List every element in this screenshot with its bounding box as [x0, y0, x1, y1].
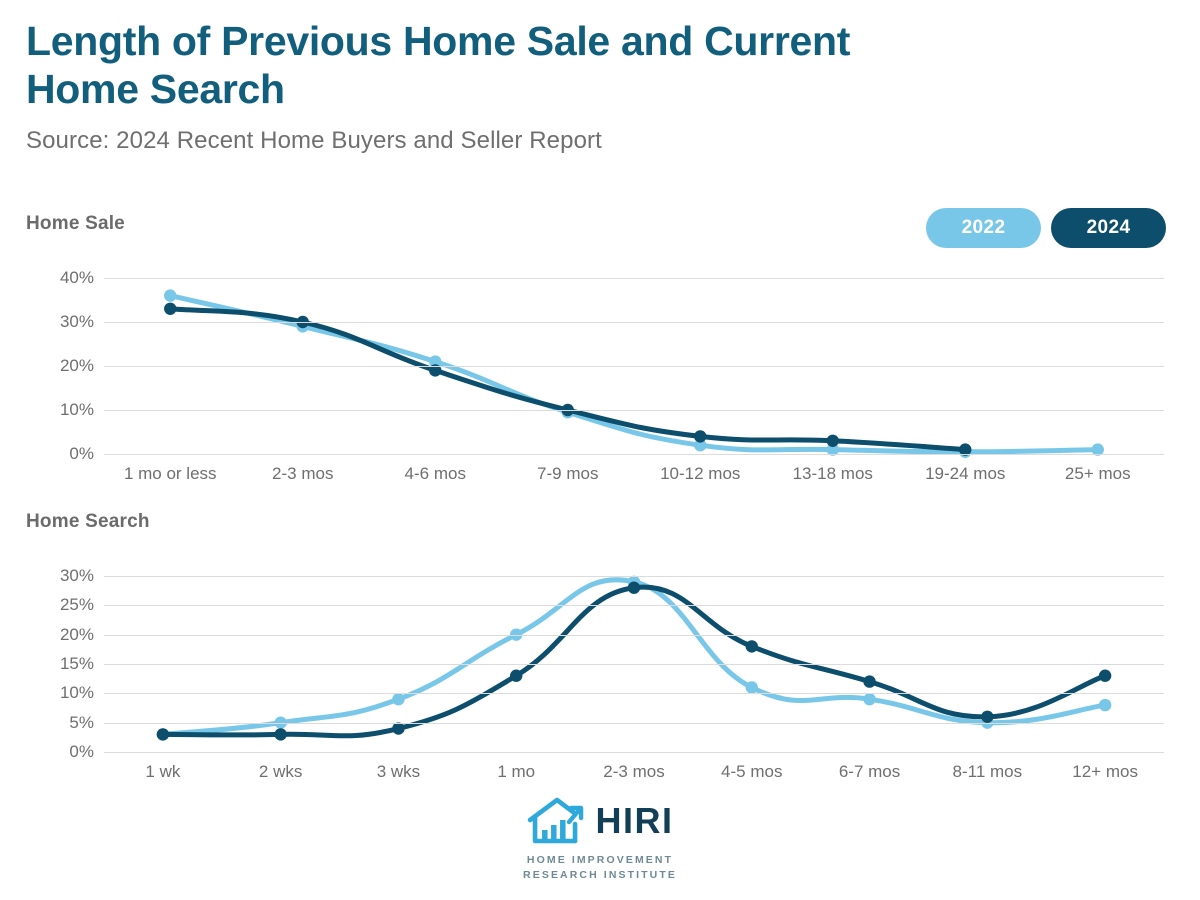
y-axis-tick-label: 30%	[60, 312, 94, 332]
x-axis-tick-label: 2-3 mos	[603, 762, 664, 782]
plot-area-home-search: 0%5%10%15%20%25%30% 1 wk2 wks3 wks1 mo2-…	[0, 560, 1200, 785]
y-axis-tick-label: 25%	[60, 595, 94, 615]
logo-main: HIRI	[526, 796, 673, 846]
x-axis-home-search: 1 wk2 wks3 wks1 mo2-3 mos4-5 mos6-7 mos8…	[104, 762, 1164, 788]
x-axis-tick-label: 4-5 mos	[721, 762, 782, 782]
x-axis-tick-label: 6-7 mos	[839, 762, 900, 782]
logo-tagline-line2: RESEARCH INSTITUTE	[523, 868, 677, 883]
y-axis-tick-label: 10%	[60, 683, 94, 703]
legend-label-2022: 2022	[962, 217, 1006, 239]
gridline	[104, 366, 1164, 367]
data-point-2024[interactable]	[510, 670, 522, 682]
data-point-2022[interactable]	[392, 693, 404, 705]
x-axis-tick-label: 1 mo	[497, 762, 535, 782]
page-subtitle: Source: 2024 Recent Home Buyers and Sell…	[26, 127, 1176, 155]
data-point-2024[interactable]	[1099, 670, 1111, 682]
y-axis-tick-label: 40%	[60, 268, 94, 288]
gridline	[104, 278, 1164, 279]
x-axis-tick-label: 4-6 mos	[405, 464, 466, 484]
plot-svg-home-search	[104, 560, 1164, 762]
x-axis-tick-label: 2-3 mos	[272, 464, 333, 484]
data-point-2024[interactable]	[746, 640, 758, 652]
data-point-2024[interactable]	[863, 675, 875, 687]
plot-svg-home-sale	[104, 262, 1164, 464]
legend: 2022 2024	[926, 208, 1166, 248]
series-line-2024	[170, 309, 965, 450]
gridline	[104, 410, 1164, 411]
y-axis-tick-label: 15%	[60, 654, 94, 674]
gridline	[104, 723, 1164, 724]
logo-wordmark: HIRI	[595, 803, 673, 839]
data-point-2024[interactable]	[694, 430, 706, 442]
x-axis-home-sale: 1 mo or less2-3 mos4-6 mos7-9 mos10-12 m…	[104, 464, 1164, 490]
gridline	[104, 664, 1164, 665]
y-axis-home-sale: 0%10%20%30%40%	[0, 262, 104, 487]
data-point-2024[interactable]	[164, 303, 176, 315]
x-axis-tick-label: 10-12 mos	[660, 464, 740, 484]
x-axis-tick-label: 12+ mos	[1072, 762, 1138, 782]
gridline	[104, 605, 1164, 606]
chart-home-sale: 0%10%20%30%40% 1 mo or less2-3 mos4-6 mo…	[0, 262, 1200, 487]
section-label-home-sale: Home Sale	[26, 213, 125, 235]
gridline	[104, 454, 1164, 455]
x-axis-tick-label: 2 wks	[259, 762, 302, 782]
header: Length of Previous Home Sale and Current…	[26, 18, 1176, 155]
legend-item-2024[interactable]: 2024	[1051, 208, 1166, 248]
series-line-2024	[163, 587, 1105, 736]
x-axis-tick-label: 13-18 mos	[793, 464, 873, 484]
x-axis-tick-label: 19-24 mos	[925, 464, 1005, 484]
logo-tagline-line1: HOME IMPROVEMENT	[523, 853, 677, 868]
x-axis-tick-label: 7-9 mos	[537, 464, 598, 484]
y-axis-tick-label: 20%	[60, 356, 94, 376]
y-axis-tick-label: 10%	[60, 400, 94, 420]
legend-label-2024: 2024	[1087, 217, 1131, 239]
data-point-2024[interactable]	[628, 582, 640, 594]
legend-item-2022[interactable]: 2022	[926, 208, 1041, 248]
logo-tagline: HOME IMPROVEMENT RESEARCH INSTITUTE	[523, 853, 677, 883]
data-point-2022[interactable]	[164, 289, 176, 301]
series-line-2022	[163, 580, 1105, 735]
data-point-2024[interactable]	[274, 728, 286, 740]
section-label-home-search: Home Search	[26, 511, 150, 533]
y-axis-home-search: 0%5%10%15%20%25%30%	[0, 560, 104, 785]
x-axis-tick-label: 1 mo or less	[124, 464, 217, 484]
data-point-2022[interactable]	[1099, 699, 1111, 711]
chart-page: Length of Previous Home Sale and Current…	[0, 0, 1200, 900]
data-point-2024[interactable]	[981, 711, 993, 723]
data-point-2022[interactable]	[746, 681, 758, 693]
x-axis-tick-label: 3 wks	[377, 762, 420, 782]
chart-home-search: 0%5%10%15%20%25%30% 1 wk2 wks3 wks1 mo2-…	[0, 560, 1200, 785]
data-point-2024[interactable]	[157, 728, 169, 740]
plot-area-home-sale: 0%10%20%30%40% 1 mo or less2-3 mos4-6 mo…	[0, 262, 1200, 487]
y-axis-tick-label: 0%	[69, 444, 94, 464]
x-axis-tick-label: 8-11 mos	[953, 762, 1023, 782]
gridline	[104, 635, 1164, 636]
gridline	[104, 576, 1164, 577]
data-point-2024[interactable]	[827, 435, 839, 447]
page-title: Length of Previous Home Sale and Current…	[26, 18, 956, 113]
x-axis-tick-label: 25+ mos	[1065, 464, 1131, 484]
y-axis-tick-label: 0%	[69, 742, 94, 762]
y-axis-tick-label: 30%	[60, 566, 94, 586]
y-axis-tick-label: 5%	[69, 713, 94, 733]
x-axis-tick-label: 1 wk	[145, 762, 180, 782]
y-axis-tick-label: 20%	[60, 625, 94, 645]
house-bar-chart-arrow-icon	[526, 796, 588, 846]
gridline	[104, 752, 1164, 753]
gridline	[104, 322, 1164, 323]
gridline	[104, 693, 1164, 694]
data-point-2022[interactable]	[863, 693, 875, 705]
data-point-2024[interactable]	[392, 722, 404, 734]
hiri-logo: HIRI HOME IMPROVEMENT RESEARCH INSTITUTE	[523, 796, 677, 883]
